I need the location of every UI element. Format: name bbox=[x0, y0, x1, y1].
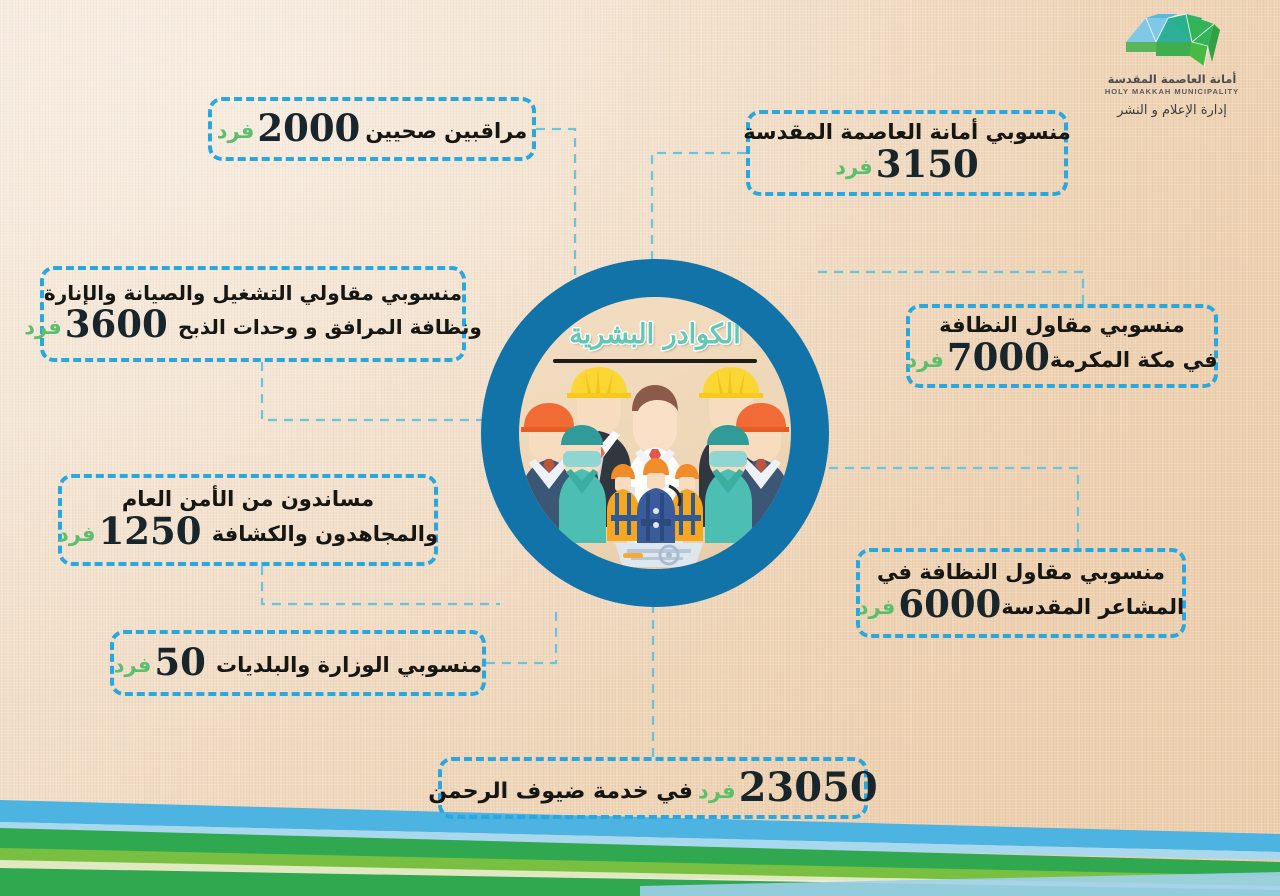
logo-name-arabic: أمانة العاصمة المقدسة bbox=[1084, 72, 1260, 86]
logo-department: إدارة الإعلام و النشر bbox=[1084, 103, 1260, 118]
logo-layer: أمانة العاصمة المقدسة HOLY MAKKAH MUNICI… bbox=[0, 0, 1280, 896]
logo-name-english: HOLY MAKKAH MUNICIPALITY bbox=[1084, 87, 1260, 96]
infographic-poster: الكوادر البشرية bbox=[0, 0, 1280, 896]
holy-makkah-municipality-logo-icon bbox=[1116, 12, 1228, 70]
brand-logo: أمانة العاصمة المقدسة HOLY MAKKAH MUNICI… bbox=[1084, 12, 1260, 118]
